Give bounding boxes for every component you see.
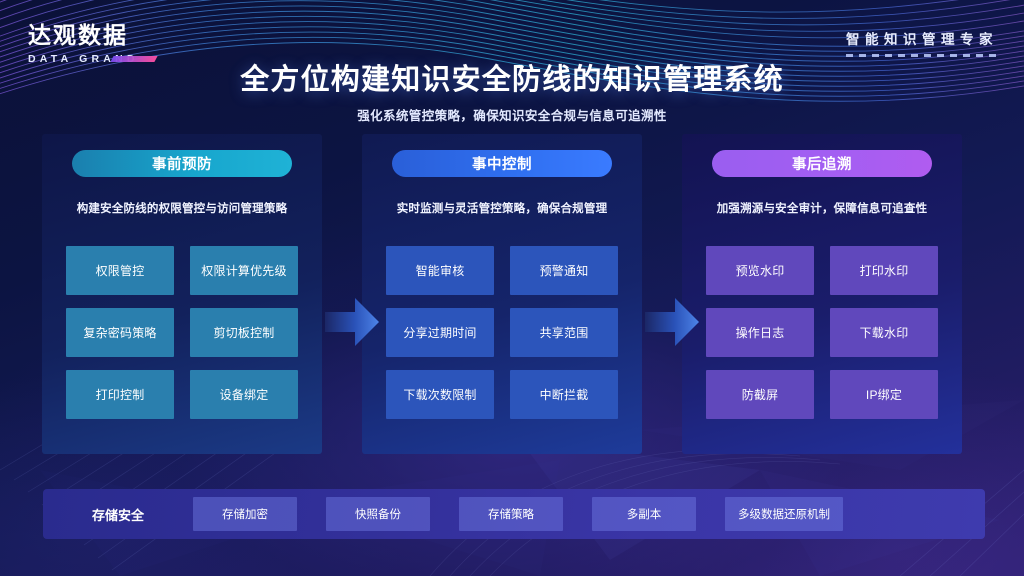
storage-tile[interactable]: 多级数据还原机制 — [725, 497, 843, 531]
feature-tile[interactable]: 权限管控 — [66, 246, 174, 295]
storage-tile[interactable]: 多副本 — [592, 497, 696, 531]
feature-tile[interactable]: 操作日志 — [706, 308, 814, 357]
stage-title-traceability: 事后追溯 — [712, 150, 932, 177]
stage-title-prevention: 事前预防 — [72, 150, 292, 177]
slide-canvas: 达观数据 DATA GRAND 智能知识管理专家 全方位构建知识安全防线的知识管… — [0, 0, 1024, 576]
stage-description-control: 实时监测与灵活管控策略，确保合规管理 — [372, 200, 632, 216]
feature-tile[interactable]: 预览水印 — [706, 246, 814, 295]
brand-name-cn: 达观数据 — [28, 16, 139, 50]
stage-column-control: 事中控制 实时监测与灵活管控策略，确保合规管理 智能审核 预警通知 分享过期时间… — [362, 134, 642, 454]
feature-tile[interactable]: 智能审核 — [386, 246, 494, 295]
storage-tile[interactable]: 存储策略 — [459, 497, 563, 531]
feature-tile[interactable]: 设备绑定 — [190, 370, 298, 419]
feature-tile[interactable]: 分享过期时间 — [386, 308, 494, 357]
feature-tile[interactable]: 共享范围 — [510, 308, 618, 357]
stage-columns: 事前预防 构建安全防线的权限管控与访问管理策略 权限管控 权限计算优先级 复杂密… — [0, 134, 1024, 454]
stage-description-traceability: 加强溯源与安全审计，保障信息可追查性 — [692, 200, 952, 216]
stage-tiles-control: 智能审核 预警通知 分享过期时间 共享范围 下载次数限制 中断拦截 — [386, 246, 618, 419]
feature-tile[interactable]: 复杂密码策略 — [66, 308, 174, 357]
feature-tile[interactable]: 打印水印 — [830, 246, 938, 295]
storage-tile[interactable]: 快照备份 — [326, 497, 430, 531]
storage-security-label: 存储安全 — [43, 505, 193, 524]
feature-tile[interactable]: 下载次数限制 — [386, 370, 494, 419]
feature-tile[interactable]: 打印控制 — [66, 370, 174, 419]
stage-column-prevention: 事前预防 构建安全防线的权限管控与访问管理策略 权限管控 权限计算优先级 复杂密… — [42, 134, 322, 454]
feature-tile[interactable]: 防截屏 — [706, 370, 814, 419]
stage-tiles-prevention: 权限管控 权限计算优先级 复杂密码策略 剪切板控制 打印控制 设备绑定 — [66, 246, 298, 419]
arrow-right-icon — [645, 298, 699, 346]
storage-security-bar: 存储安全 存储加密 快照备份 存储策略 多副本 多级数据还原机制 — [43, 489, 985, 539]
stage-column-traceability: 事后追溯 加强溯源与安全审计，保障信息可追查性 预览水印 打印水印 操作日志 下… — [682, 134, 962, 454]
tagline-block: 智能知识管理专家 — [846, 28, 998, 57]
feature-tile[interactable]: IP绑定 — [830, 370, 938, 419]
feature-tile[interactable]: 预警通知 — [510, 246, 618, 295]
feature-tile[interactable]: 权限计算优先级 — [190, 246, 298, 295]
storage-security-items: 存储加密 快照备份 存储策略 多副本 多级数据还原机制 — [193, 497, 843, 531]
stage-tiles-traceability: 预览水印 打印水印 操作日志 下载水印 防截屏 IP绑定 — [706, 246, 938, 419]
stage-description-prevention: 构建安全防线的权限管控与访问管理策略 — [52, 200, 312, 216]
stage-title-control: 事中控制 — [392, 150, 612, 177]
page-subtitle: 强化系统管控策略，确保知识安全合规与信息可追溯性 — [0, 105, 1024, 124]
feature-tile[interactable]: 剪切板控制 — [190, 308, 298, 357]
feature-tile[interactable]: 下载水印 — [830, 308, 938, 357]
storage-tile[interactable]: 存储加密 — [193, 497, 297, 531]
feature-tile[interactable]: 中断拦截 — [510, 370, 618, 419]
page-title: 全方位构建知识安全防线的知识管理系统 — [0, 56, 1024, 98]
tagline-text: 智能知识管理专家 — [846, 28, 998, 48]
arrow-right-icon — [325, 298, 379, 346]
